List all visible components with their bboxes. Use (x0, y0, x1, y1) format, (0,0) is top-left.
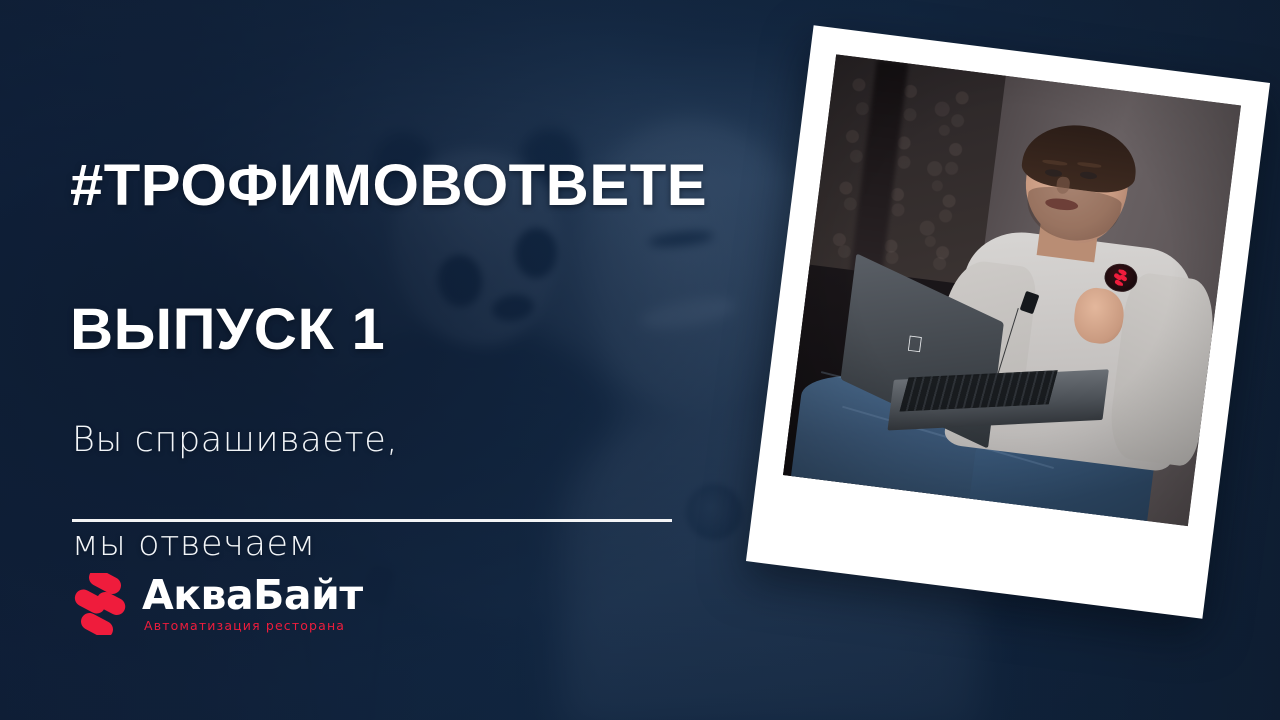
subtitle-line-2: мы отвечаем (72, 524, 316, 564)
subtitle: Вы спрашиваете, мы отвечаем (72, 362, 398, 570)
title-line-2: ВЫПУСК 1 (70, 294, 873, 366)
photo-vignette (783, 54, 1241, 526)
brand-logo: АкваБайт Автоматизация ресторана (72, 573, 363, 635)
logo-wordmark: АкваБайт (142, 574, 363, 616)
logo-tagline: Автоматизация ресторана (144, 618, 363, 634)
subtitle-line-1: Вы спрашиваете, (72, 420, 398, 460)
akvabyte-s-mark-icon (72, 573, 128, 635)
polaroid-photo:  (783, 54, 1241, 526)
polaroid-frame:  (746, 25, 1270, 618)
video-thumbnail-slide: #ТРОФИМОВОТВЕТЕ ВЫПУСК 1 Вы спрашиваете,… (0, 0, 1280, 720)
divider (72, 519, 672, 522)
title-line-1: #ТРОФИМОВОТВЕТЕ (70, 150, 873, 222)
slide-content: #ТРОФИМОВОТВЕТЕ ВЫПУСК 1 Вы спрашиваете,… (70, 0, 710, 720)
logo-text-block: АкваБайт Автоматизация ресторана (142, 574, 363, 634)
